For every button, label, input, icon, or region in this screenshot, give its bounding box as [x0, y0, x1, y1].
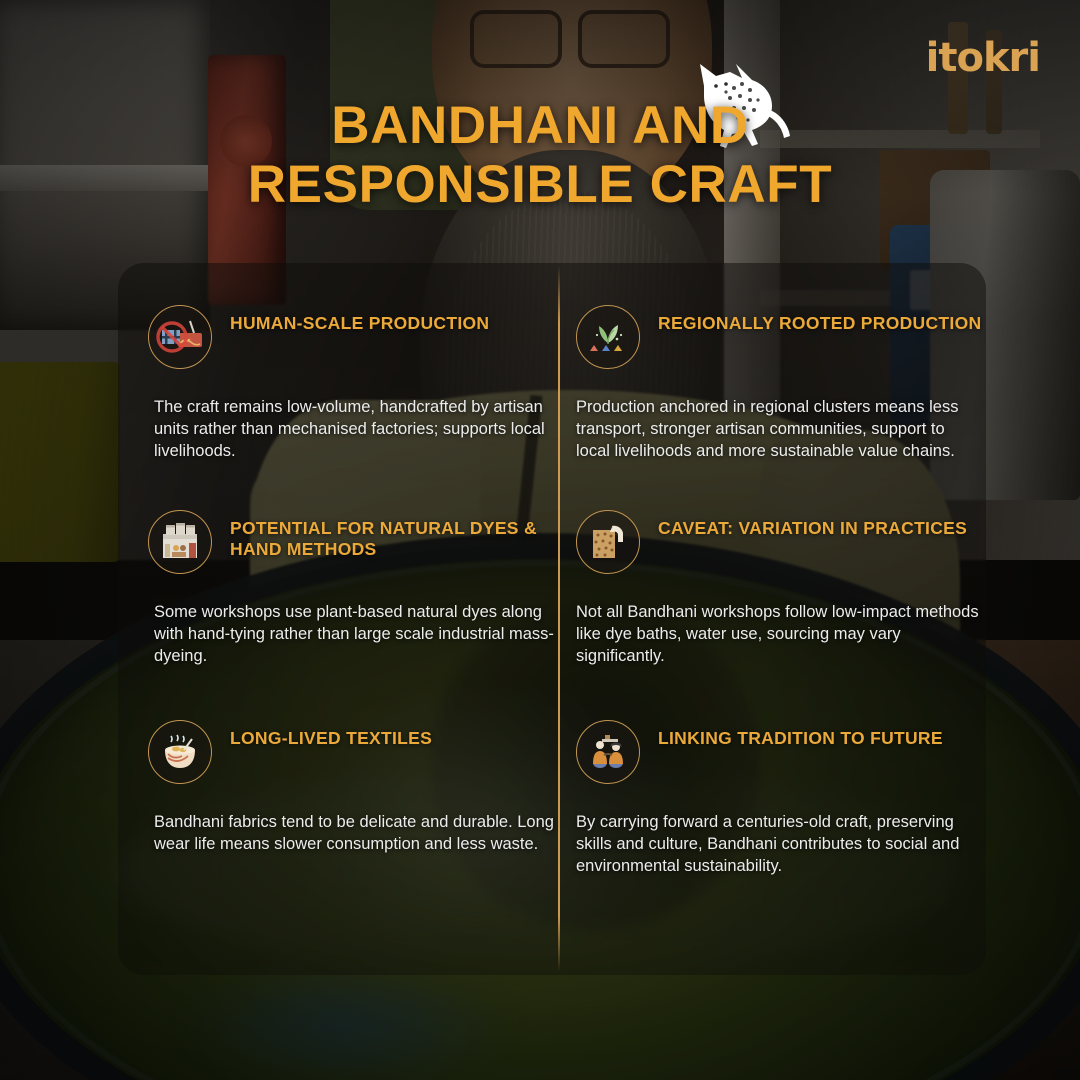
card-title: POTENTIAL FOR NATURAL DYES & HAND METHOD… [230, 508, 554, 561]
no-factory-icon [148, 305, 212, 369]
card-title: CAVEAT: VARIATION IN PRACTICES [658, 508, 967, 539]
title-line-2: RESPONSIBLE CRAFT [0, 155, 1080, 214]
brand-logo[interactable]: itokri [926, 38, 1040, 78]
two-artisans-icon [576, 720, 640, 784]
page-title: BANDHANI AND RESPONSIBLE CRAFT [0, 96, 1080, 215]
card-body: Production anchored in regional clusters… [576, 397, 982, 462]
workshop-building-icon [148, 510, 212, 574]
card-long-lived-textiles: LONG-LIVED TEXTILES Bandhani fabrics ten… [148, 718, 554, 856]
card-body: By carrying forward a centuries-old craf… [576, 812, 982, 877]
hand-holding-fabric-icon [576, 510, 640, 574]
cards-grid: HUMAN-SCALE PRODUCTION The craft remains… [118, 263, 986, 975]
card-body: Bandhani fabrics tend to be delicate and… [154, 812, 554, 856]
card-natural-dyes-hand-methods: POTENTIAL FOR NATURAL DYES & HAND METHOD… [148, 508, 554, 667]
card-caveat-variation-in-practices: CAVEAT: VARIATION IN PRACTICES Not all B… [576, 508, 982, 667]
card-regionally-rooted-production: REGIONALLY ROOTED PRODUCTION Production … [576, 303, 982, 462]
card-human-scale-production: HUMAN-SCALE PRODUCTION The craft remains… [148, 303, 554, 462]
dye-pot-icon [148, 720, 212, 784]
card-title: LONG-LIVED TEXTILES [230, 718, 432, 749]
card-body: The craft remains low-volume, handcrafte… [154, 397, 554, 462]
card-title: LINKING TRADITION TO FUTURE [658, 718, 943, 749]
card-title: HUMAN-SCALE PRODUCTION [230, 303, 489, 334]
seedling-region-icon [576, 305, 640, 369]
title-line-1: BANDHANI AND [0, 96, 1080, 155]
card-linking-tradition-to-future: LINKING TRADITION TO FUTURE By carrying … [576, 718, 982, 877]
card-body: Not all Bandhani workshops follow low-im… [576, 602, 982, 667]
card-body: Some workshops use plant-based natural d… [154, 602, 554, 667]
card-title: REGIONALLY ROOTED PRODUCTION [658, 303, 981, 334]
brand-logo-text: itokri [926, 35, 1040, 81]
infographic-poster: itokri BANDHANI AND RESPONSIBLE CRAFT [0, 0, 1080, 1080]
